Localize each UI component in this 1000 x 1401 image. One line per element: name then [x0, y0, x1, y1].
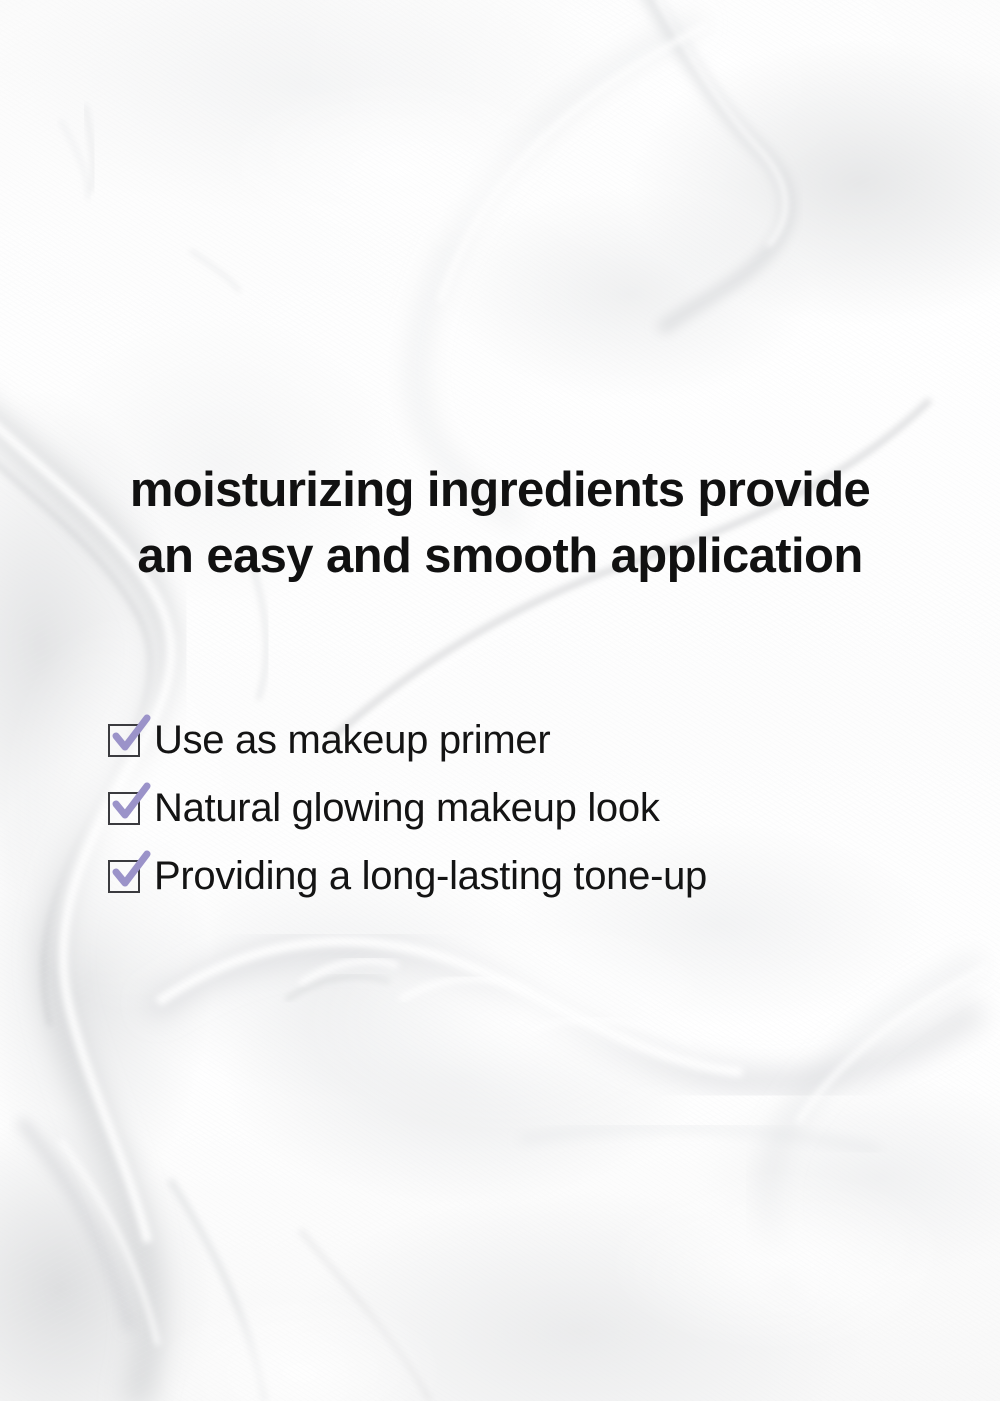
checked-checkbox-icon — [108, 724, 140, 757]
feature-label: Providing a long-lasting tone-up — [154, 853, 707, 899]
feature-label: Use as makeup primer — [154, 717, 550, 763]
feature-item: Providing a long-lasting tone-up — [108, 842, 707, 910]
product-banner: moisturizing ingredients provide an easy… — [0, 0, 1000, 1401]
feature-item: Use as makeup primer — [108, 706, 707, 774]
headline-line-1: moisturizing ingredients provide — [0, 457, 1000, 523]
headline: moisturizing ingredients provide an easy… — [0, 457, 1000, 589]
headline-line-2: an easy and smooth application — [0, 523, 1000, 589]
feature-item: Natural glowing makeup look — [108, 774, 707, 842]
feature-list: Use as makeup primer Natural glowing mak… — [108, 706, 707, 910]
checked-checkbox-icon — [108, 792, 140, 825]
feature-label: Natural glowing makeup look — [154, 785, 660, 831]
checked-checkbox-icon — [108, 860, 140, 893]
